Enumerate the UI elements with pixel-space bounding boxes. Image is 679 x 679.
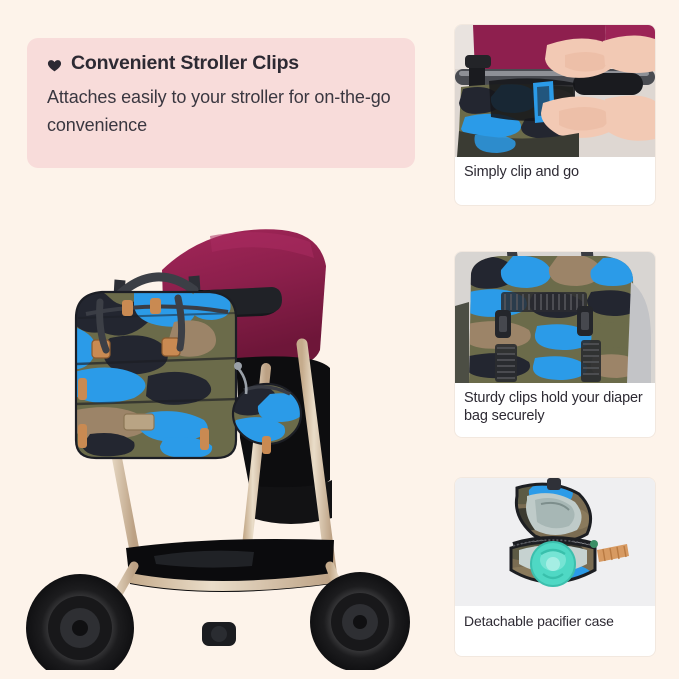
heart-icon (47, 58, 62, 73)
feature-panel-pacifier-case[interactable]: Detachable pacifier case (455, 478, 655, 656)
hero-product-image (14, 218, 438, 670)
panel-caption-sturdy-clips: Sturdy clips hold your diaper bag secure… (455, 383, 655, 425)
panel-image-pacifier-case (455, 478, 655, 606)
feature-panel-clip-and-go[interactable]: Simply clip and go (455, 25, 655, 205)
panel-caption-clip-and-go: Simply clip and go (455, 157, 655, 182)
feature-subtitle: Attaches easily to your stroller for on-… (47, 84, 393, 139)
feature-panel-sturdy-clips[interactable]: Sturdy clips hold your diaper bag secure… (455, 252, 655, 437)
page-title: Convenient Stroller Clips (71, 52, 299, 75)
infographic-page: Convenient Stroller Clips Attaches easil… (0, 0, 679, 679)
feature-card: Convenient Stroller Clips Attaches easil… (27, 38, 415, 168)
panel-image-clip-and-go (455, 25, 655, 157)
feature-title-row: Convenient Stroller Clips (47, 52, 393, 75)
panel-caption-pacifier-case: Detachable pacifier case (455, 606, 655, 630)
panel-image-sturdy-clips (455, 252, 655, 383)
